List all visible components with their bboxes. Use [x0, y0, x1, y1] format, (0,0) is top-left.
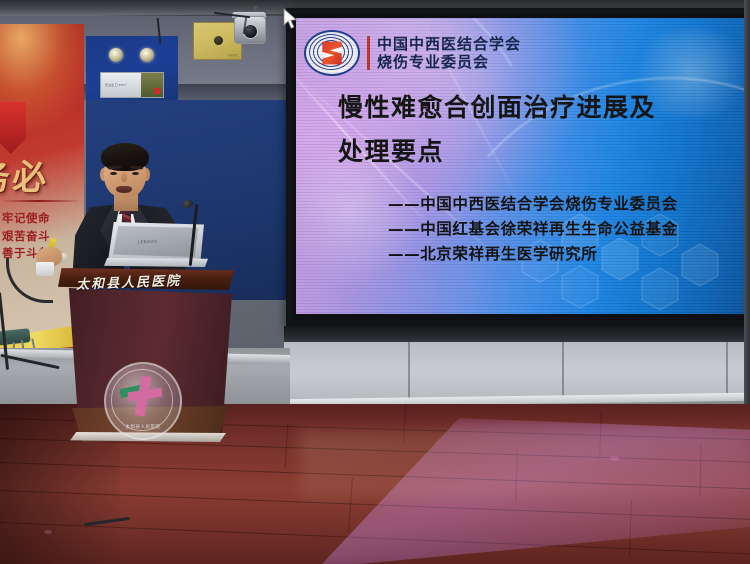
slide-subtitle-line: ——北京荣祥再生医学研究所 — [388, 242, 748, 267]
slide-subtitle-list: ——中国中西医结合学会烧伤专业委员会 ——中国红基会徐荣祥再生生命公益基金 ——… — [388, 192, 748, 267]
logo-divider — [367, 36, 370, 70]
wall-panel-seam — [408, 342, 410, 398]
mouse-pointer-icon — [283, 8, 299, 30]
floor-sheen — [300, 430, 750, 500]
association-logo-icon — [304, 30, 360, 76]
speaker-eye-left — [110, 172, 117, 175]
logo-line-1: 中国中西医结合学会 — [377, 35, 521, 53]
slide-title: 慢性难愈合创面治疗进展及 处理要点 — [338, 86, 738, 174]
hospital-cross-emblem: 太和县人民医院 — [104, 362, 182, 440]
speaker-mouth — [116, 186, 132, 193]
logo-line-2: 烧伤专业委员会 — [377, 53, 521, 71]
banner-slogan-line: 牢记使命 — [2, 210, 82, 228]
banner-headline: 务必 — [0, 150, 72, 199]
laptop-brand-label: LENOVO — [138, 239, 157, 245]
banner-slogan-line: 艰苦奋斗 — [2, 228, 82, 246]
emergency-exit-sign-indicator — [154, 88, 160, 94]
fire-alarm-speaker-grille — [214, 36, 223, 45]
logo-wordmark: 中国中西医结合学会 烧伤专业委员会 — [377, 35, 521, 72]
banner-emblem-icon — [0, 102, 26, 154]
emergency-lamp-left — [109, 48, 123, 62]
slide-logo: 中国中西医结合学会 烧伤专业委员会 — [304, 30, 521, 76]
speaker-eye-right — [132, 172, 139, 175]
emblem-caption: 太和县人民医院 — [116, 424, 170, 430]
slide-title-line: 处理要点 — [338, 130, 738, 174]
floor-debris — [44, 530, 52, 534]
slide-title-line: 慢性难愈合创面治疗进展及 — [338, 86, 738, 130]
banner-divider — [4, 200, 78, 202]
screen-under-shadow — [284, 326, 750, 342]
slide-subtitle-line: ——中国红基会徐荣祥再生生命公益基金 — [388, 217, 748, 242]
speaker-nose — [121, 172, 127, 182]
emergency-exit-sign: 安全出口 EXIT — [100, 72, 164, 98]
projection-screen[interactable]: 中国中西医结合学会 烧伤专业委员会 慢性难愈合创面治疗进展及 处理要点 ——中国… — [296, 18, 750, 314]
emergency-lamp-right — [140, 48, 154, 62]
floor-debris — [610, 456, 619, 461]
emergency-exit-sign-label: 安全出口 EXIT — [101, 83, 126, 88]
fire-alarm-box-label: 消防报警 — [228, 53, 238, 57]
water-cup — [36, 262, 54, 276]
slide-subtitle-line: ——中国中西医结合学会烧伤专业委员会 — [388, 192, 748, 217]
conference-hall-photo: 安全出口 EXIT 消防报警 务必 牢记使命 艰苦奋斗 善于斗争 活 — [0, 0, 750, 564]
right-side-wall — [744, 0, 750, 420]
wall-panel-seam — [562, 342, 564, 400]
